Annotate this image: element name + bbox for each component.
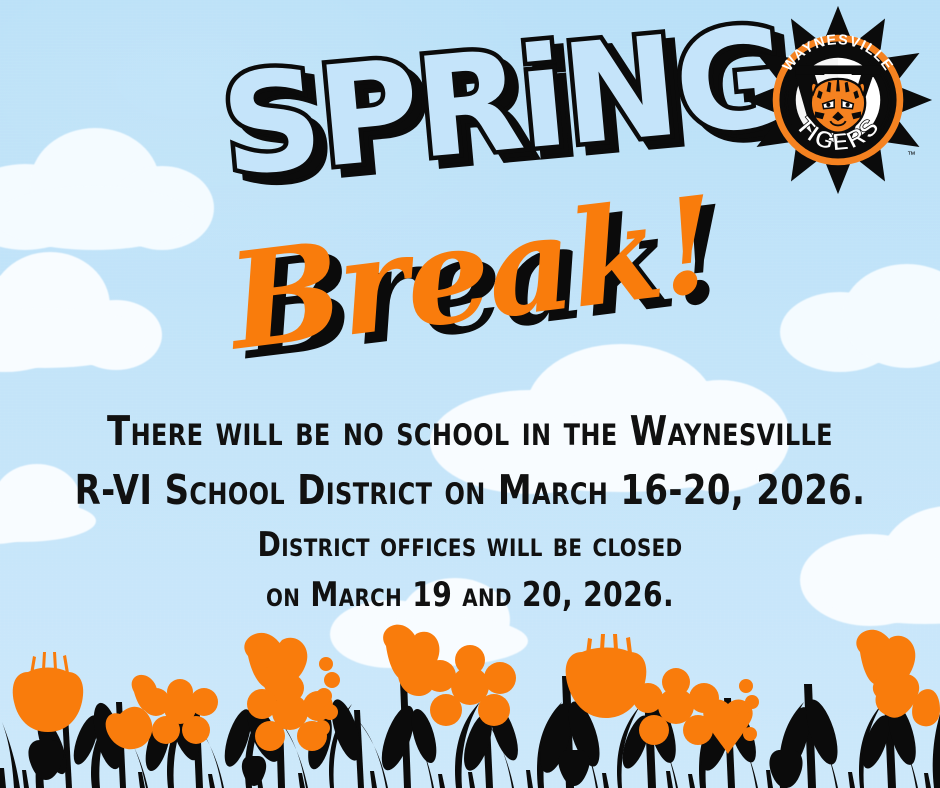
flower-border	[0, 618, 940, 788]
logo-trademark-symbol: ™	[907, 150, 916, 160]
announcement-text: There will be no school in the Waynesvil…	[0, 402, 940, 620]
announcement-line-1: There will be no school in the Waynesvil…	[38, 402, 903, 461]
announcement-line-3: District offices will be closed	[38, 520, 903, 570]
spring-break-poster: SPRiNG SPRiNG Break! Break! There will b…	[0, 0, 940, 788]
waynesville-tigers-logo: WAYNESVILLE TIGERS ™	[742, 4, 934, 196]
announcement-line-2: R-VI School District on March 16-20, 202…	[38, 461, 903, 520]
announcement-line-4: on March 19 and 20, 2026.	[38, 570, 903, 620]
